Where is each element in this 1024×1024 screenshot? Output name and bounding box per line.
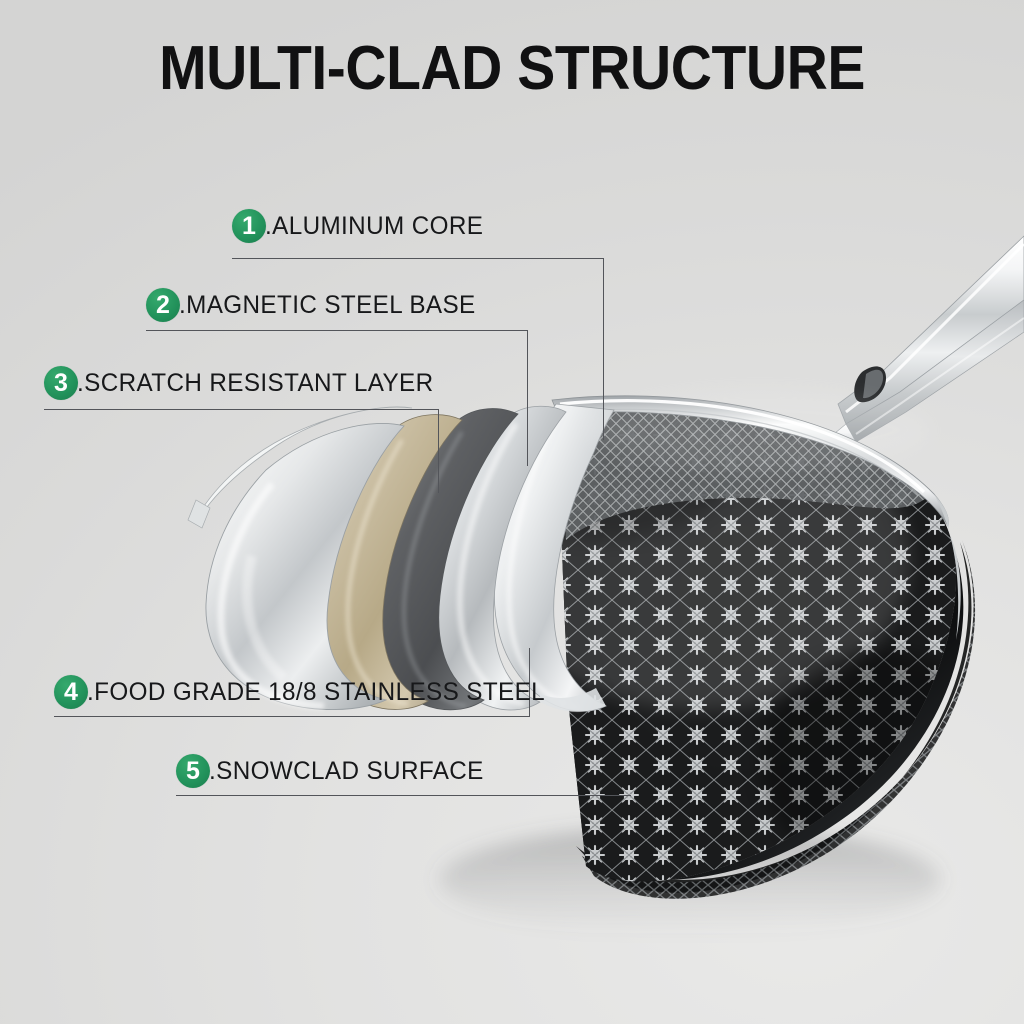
callout-label-3: .SCRATCH RESISTANT LAYER: [77, 369, 434, 398]
leader-underline-2: [146, 330, 528, 331]
infographic-canvas: MULTI-CLAD STRUCTURE: [0, 0, 1024, 1024]
leader-connector-1: [603, 258, 604, 440]
callout-label-4: .FOOD GRADE 18/8 STAINLESS STEEL: [87, 678, 545, 707]
callout-1[interactable]: 1 .ALUMINUM CORE: [232, 209, 490, 243]
callout-number-badge-1: 1: [232, 209, 266, 243]
callout-number-badge-3: 3: [44, 366, 78, 400]
callout-4[interactable]: 4 .FOOD GRADE 18/8 STAINLESS STEEL: [54, 675, 559, 709]
callout-label-2: .MAGNETIC STEEL BASE: [179, 291, 476, 320]
leader-underline-3: [44, 409, 439, 410]
leader-connector-3: [438, 409, 439, 493]
pan-illustration: [0, 0, 1024, 1024]
callout-label-1: .ALUMINUM CORE: [265, 212, 483, 241]
callout-number-badge-5: 5: [176, 754, 210, 788]
leader-underline-5: [176, 795, 631, 796]
leader-connector-2: [527, 330, 528, 466]
leader-underline-1: [232, 258, 604, 259]
leader-underline-4: [54, 716, 530, 717]
callout-label-5: .SNOWCLAD SURFACE: [209, 757, 484, 786]
multiclad-peel-stack: [188, 404, 614, 712]
callout-5[interactable]: 5 .SNOWCLAD SURFACE: [176, 754, 492, 788]
callout-3[interactable]: 3 .SCRATCH RESISTANT LAYER: [44, 366, 445, 400]
callout-2[interactable]: 2 .MAGNETIC STEEL BASE: [146, 288, 485, 322]
callout-number-badge-4: 4: [54, 675, 88, 709]
callout-number-badge-2: 2: [146, 288, 180, 322]
